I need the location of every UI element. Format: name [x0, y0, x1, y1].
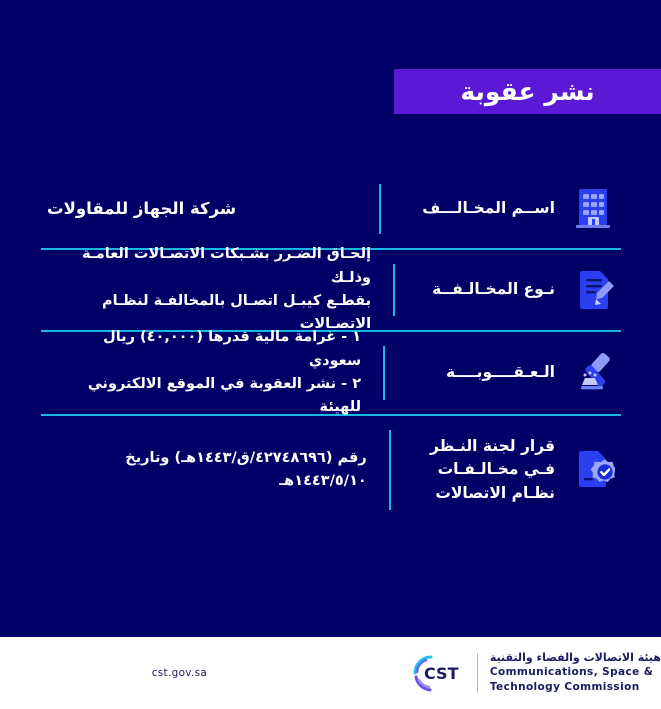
- footer: cst.gov.sa CST هيئة الاتصالات والفضاء وا…: [0, 637, 661, 709]
- decision-reference-value: رقم (٤٢٧٤٨٦٩٦/ق/١٤٤٣هـ) وتاريخ ١٤٤٣/٥/١٠…: [47, 447, 367, 494]
- website-url[interactable]: cst.gov.sa: [152, 667, 207, 679]
- table-row-violation-type: نـوع المخـالـفــة إلحـاق الضـرر بشـبكات …: [41, 250, 621, 330]
- decision-label-line-1: قرار لجنة النـظر: [430, 437, 555, 455]
- row-value-cell: إلحـاق الضـرر بشـبكات الاتصـالات العامـة…: [41, 243, 385, 337]
- row-label: اســم المخـالـــف: [422, 197, 555, 220]
- violator-name-value: شركة الجهاز للمقاولات: [47, 196, 236, 223]
- decision-label-line-2: فـي مخـالـفـات: [438, 460, 555, 478]
- gavel-icon: [569, 348, 617, 398]
- document-pencil-icon: [569, 265, 617, 315]
- penalty-value: ١ - غرامة مالية قدرها (٤٠,٠٠٠) ريال سعود…: [47, 326, 361, 420]
- header-banner: نشر عقوبة: [394, 69, 661, 114]
- table-row-decision: قرار لجنة النـظر فـي مخـالـفـات نظـام ال…: [41, 416, 621, 524]
- row-label: نـوع المخـالـفــة: [432, 278, 555, 301]
- cst-logo: CST هيئة الاتصالات والفضاء والتقنية Comm…: [387, 651, 661, 695]
- row-value-cell: شركة الجهاز للمقاولات: [41, 196, 371, 223]
- row-label-cell: الـعـقــــوبــــة: [393, 348, 621, 398]
- cst-logo-mark-icon: CST: [409, 651, 465, 695]
- row-divider: [389, 430, 391, 510]
- table-row-penalty: الـعـقــــوبــــة ١ - غرامة مالية قدرها …: [41, 332, 621, 414]
- building-icon: [569, 184, 617, 234]
- violation-type-value: إلحـاق الضـرر بشـبكات الاتصـالات العامـة…: [47, 243, 371, 337]
- decision-label-line-3: نظـام الاتصالات: [435, 484, 555, 502]
- penalty-item-2: ٢ - نشر العقوبة في الموقع الالكتروني لله…: [47, 373, 361, 420]
- org-name-block: هيئة الاتصالات والفضاء والتقنية Communic…: [490, 651, 661, 694]
- org-name-english-line-1: Communications, Space &: [490, 666, 661, 680]
- row-label-cell: اســم المخـالـــف: [389, 184, 621, 234]
- org-name-english-line-2: Technology Commission: [490, 681, 661, 695]
- org-name-arabic: هيئة الاتصالات والفضاء والتقنية: [490, 651, 661, 665]
- logo-divider: [477, 653, 478, 693]
- row-divider: [379, 184, 381, 234]
- violation-type-line-1: إلحـاق الضـرر بشـبكات الاتصـالات العامـة…: [47, 243, 371, 290]
- row-label-cell: نـوع المخـالـفــة: [403, 265, 621, 315]
- row-label: الـعـقــــوبــــة: [446, 361, 555, 384]
- cst-wordmark: CST: [424, 664, 459, 683]
- row-value-cell: ١ - غرامة مالية قدرها (٤٠,٠٠٠) ريال سعود…: [41, 326, 375, 420]
- details-table: اســم المخـالـــف شركة الجهاز للمقاولات: [41, 170, 621, 524]
- row-label-cell: قرار لجنة النـظر فـي مخـالـفـات نظـام ال…: [399, 435, 621, 505]
- row-label: قرار لجنة النـظر فـي مخـالـفـات نظـام ال…: [399, 435, 555, 505]
- row-divider: [383, 346, 385, 400]
- page-title: نشر عقوبة: [460, 77, 594, 106]
- document-verified-icon: [569, 445, 617, 495]
- penalty-publication-poster: نشر عقوبة: [0, 0, 661, 709]
- row-value-cell: رقم (٤٢٧٤٨٦٩٦/ق/١٤٤٣هـ) وتاريخ ١٤٤٣/٥/١٠…: [41, 447, 381, 494]
- table-row-violator-name: اســم المخـالـــف شركة الجهاز للمقاولات: [41, 170, 621, 248]
- row-divider: [393, 264, 395, 316]
- penalty-item-1: ١ - غرامة مالية قدرها (٤٠,٠٠٠) ريال سعود…: [47, 326, 361, 373]
